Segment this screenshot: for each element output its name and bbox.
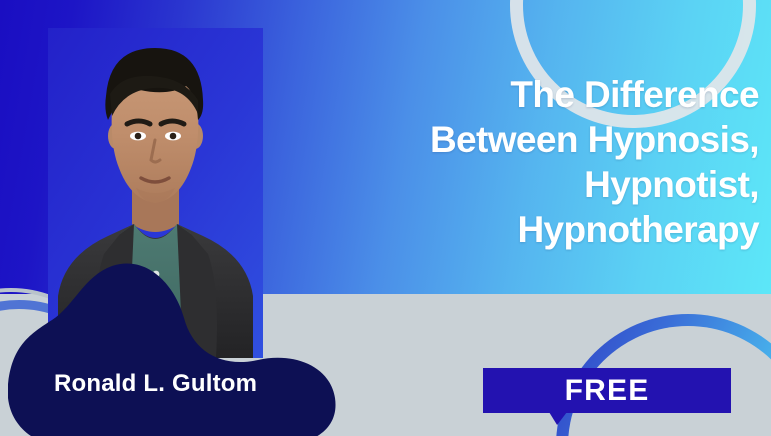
title-line-3: Hypnotist, [239, 162, 759, 207]
promo-banner: Ronald L. Gultom The Difference Between … [0, 0, 771, 436]
free-badge[interactable]: FREE [483, 368, 731, 413]
title-line-4: Hypnotherapy [239, 207, 759, 252]
speaker-name: Ronald L. Gultom [54, 370, 257, 398]
free-badge-label: FREE [565, 374, 650, 408]
title-line-2: Between Hypnosis, [239, 117, 759, 162]
navy-blob-shape [8, 262, 338, 436]
page-title: The Difference Between Hypnosis, Hypnoti… [239, 72, 759, 252]
title-line-1: The Difference [239, 72, 759, 117]
